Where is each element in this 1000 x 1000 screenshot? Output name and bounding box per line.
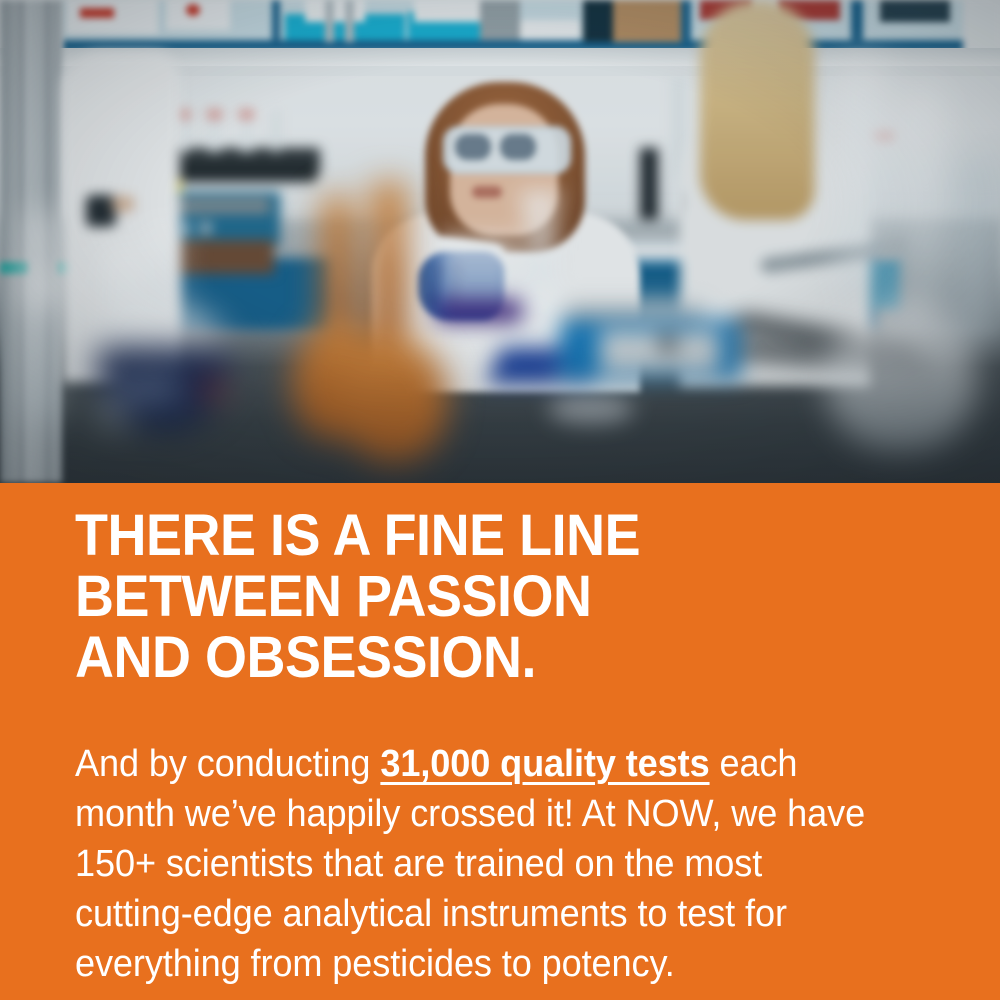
body-text-before: And by conducting — [75, 743, 380, 785]
advertisement-canvas: 500 THERE IS A FINE LINE BETWEEN PASSION… — [0, 0, 1000, 1000]
orange-text-panel: THERE IS A FINE LINE BETWEEN PASSION AND… — [0, 483, 1000, 1000]
headline: THERE IS A FINE LINE BETWEEN PASSION AND… — [75, 505, 893, 688]
body-copy: And by conducting 31,000 quality tests e… — [75, 739, 883, 989]
lab-photo: 500 — [0, 0, 1000, 483]
photo-vignette — [0, 0, 1000, 483]
body-emphasis-stat: 31,000 quality tests — [380, 743, 709, 785]
